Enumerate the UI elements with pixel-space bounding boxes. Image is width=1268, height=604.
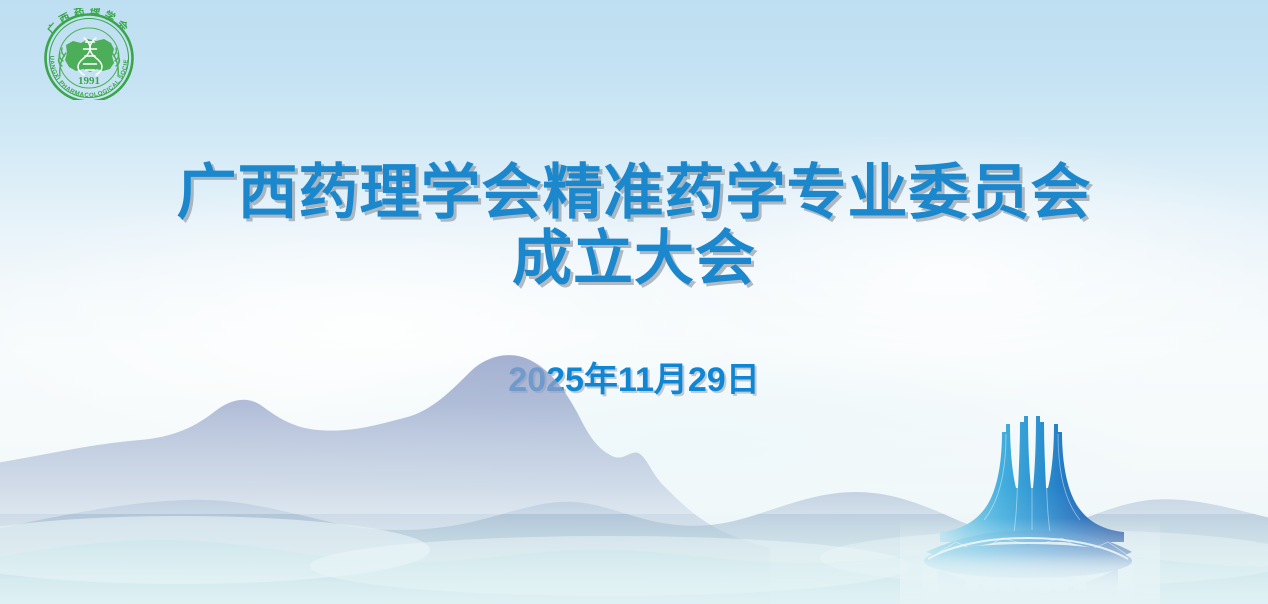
logo-top-arc-text: 广西药理学会 [45, 8, 134, 37]
mist-band-mid [310, 536, 910, 596]
nanning-convention-center-illustration [922, 414, 1134, 604]
venue-base-fade [922, 554, 1134, 604]
title-line-1: 广西药理学会精准药学专业委员会 [0, 160, 1268, 226]
society-logo: 1991 广西药理学会 GUANGXI PHARMACOLOGICAL SOCI… [26, 8, 152, 100]
conference-title-slide: 1991 广西药理学会 GUANGXI PHARMACOLOGICAL SOCI… [0, 0, 1268, 604]
logo-year-text: 1991 [78, 75, 100, 87]
slide-title: 广西药理学会精准药学专业委员会 成立大会 [0, 160, 1268, 292]
title-line-2: 成立大会 [0, 226, 1268, 292]
